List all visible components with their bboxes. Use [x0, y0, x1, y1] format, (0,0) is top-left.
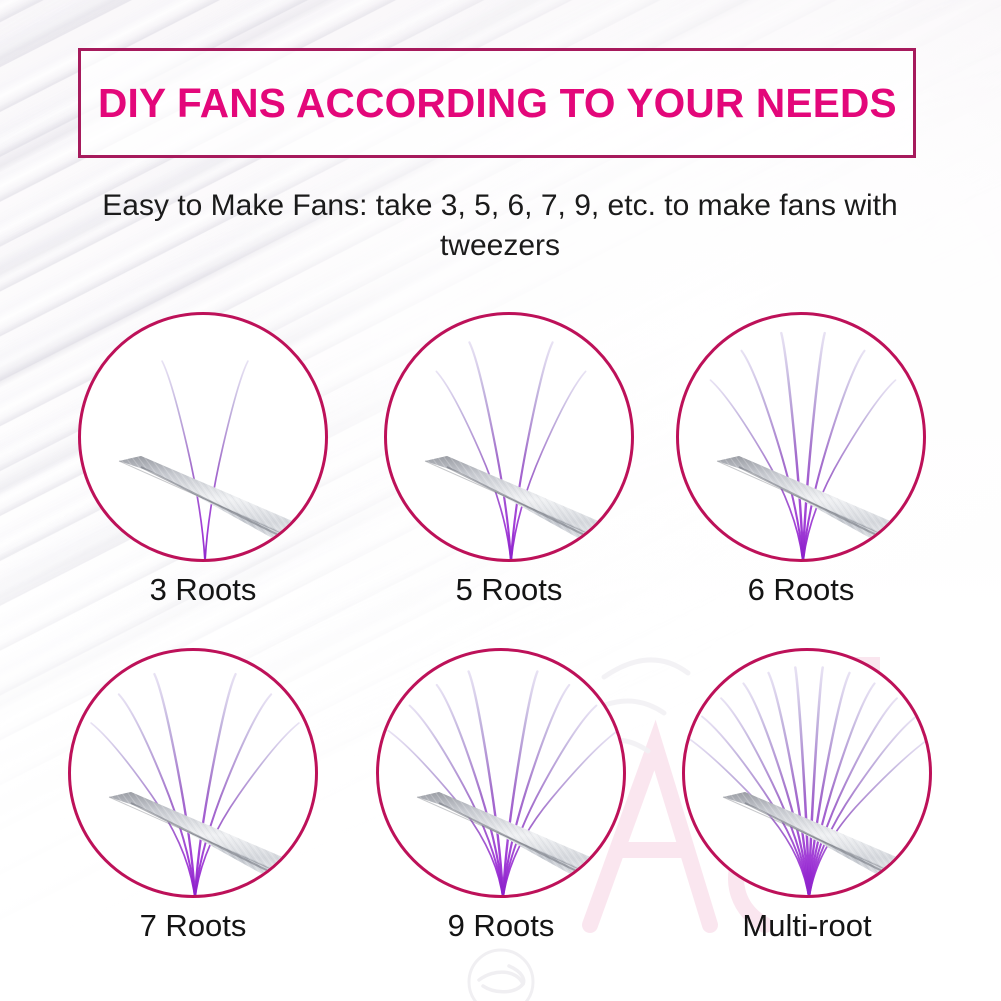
fan-card-roots-9: 9 Roots: [376, 648, 626, 944]
fan-card-label-roots-9: 9 Roots: [376, 908, 626, 944]
fan-illustration-roots-9: [376, 648, 626, 898]
fan-card-roots-7: 7 Roots: [68, 648, 318, 944]
page-title: DIY FANS ACCORDING TO YOUR NEEDS: [98, 80, 897, 127]
title-banner: DIY FANS ACCORDING TO YOUR NEEDS: [78, 48, 916, 158]
fan-card-label-roots-5: 5 Roots: [384, 572, 634, 608]
fan-card-label-roots-3: 3 Roots: [78, 572, 328, 608]
fan-card-roots-3: 3 Roots: [78, 312, 328, 608]
fan-illustration-roots-6: [676, 312, 926, 562]
fan-card-roots-5: 5 Roots: [384, 312, 634, 608]
fan-illustration-roots-3: [78, 312, 328, 562]
fan-illustration-roots-7: [68, 648, 318, 898]
fan-illustration-roots-5: [384, 312, 634, 562]
fan-card-label-multi-root: Multi-root: [682, 908, 932, 944]
fan-card-roots-6: 6 Roots: [676, 312, 926, 608]
fan-illustration-multi-root: [682, 648, 932, 898]
infographic-page: DIY FANS ACCORDING TO YOUR NEEDS Easy to…: [0, 0, 1001, 1001]
fan-card-label-roots-6: 6 Roots: [676, 572, 926, 608]
brand-ring-logo-icon: [465, 946, 537, 1001]
fan-card-multi-root: Multi-root: [682, 648, 932, 944]
subtitle-text: Easy to Make Fans: take 3, 5, 6, 7, 9, e…: [100, 186, 900, 265]
fan-card-label-roots-7: 7 Roots: [68, 908, 318, 944]
